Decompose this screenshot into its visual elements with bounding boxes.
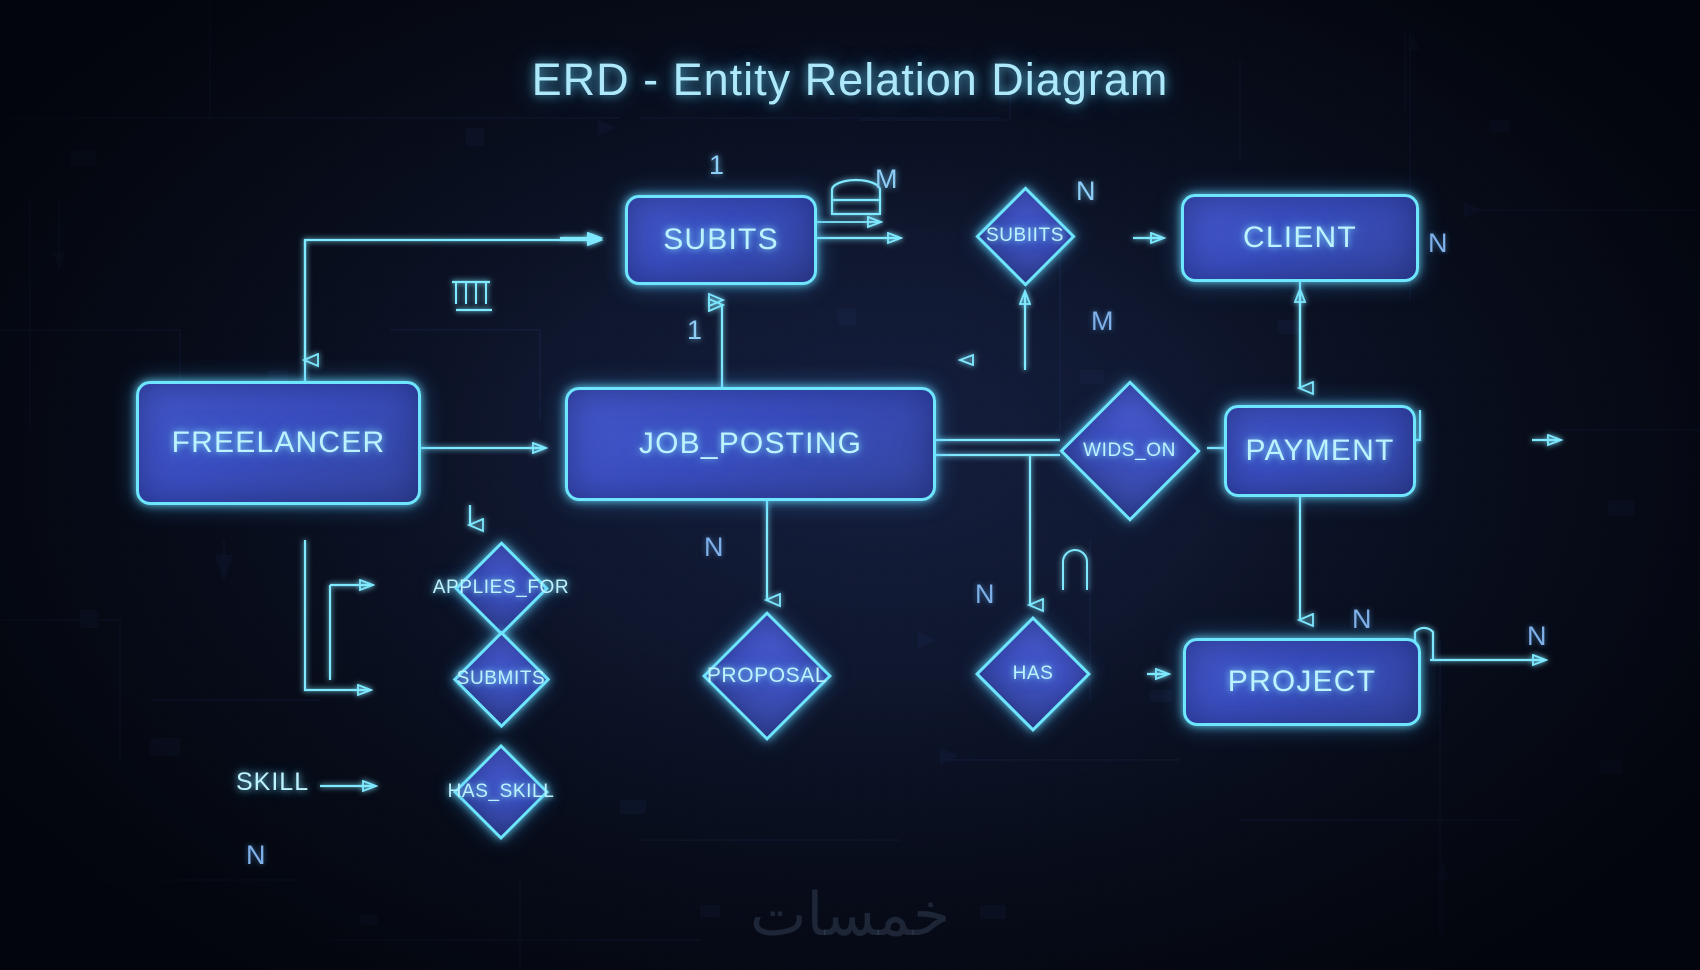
cardinality-subits-right: M (875, 164, 898, 195)
relationship-proposal[interactable]: PROPOSAL (627, 611, 907, 741)
entity-label: PROJECT (1228, 665, 1376, 699)
cardinality-bottom-left: N (246, 840, 266, 871)
relationship-submits[interactable]: SUBMITS (390, 630, 612, 728)
relationship-label: APPLIES_FOR (433, 577, 569, 599)
entity-label: JOB_POSTING (639, 427, 862, 461)
entity-label: FREELANCER (172, 426, 386, 460)
entity-payment[interactable]: PAYMENT (1224, 405, 1416, 497)
entity-client[interactable]: CLIENT (1181, 194, 1419, 282)
relationship-label: HAS_SKILL (448, 781, 555, 803)
cardinality-client-right: N (1428, 228, 1448, 259)
relationship-label: HAS (1013, 663, 1054, 685)
cardinality-job-posting-up: 1 (687, 315, 702, 346)
entity-label-skill[interactable]: SKILL (236, 768, 309, 797)
relationship-label: WIDS_ON (1083, 440, 1176, 462)
relationship-subiits[interactable]: SUBIITS (917, 186, 1133, 286)
relationship-has[interactable]: HAS (919, 616, 1147, 732)
relationship-label: SUBIITS (986, 225, 1064, 247)
entity-label: SUBITS (663, 223, 779, 257)
relationship-applies-for[interactable]: APPLIES_FOR (390, 541, 612, 635)
relationship-label: PROPOSAL (707, 664, 827, 688)
cardinality-payment-up: M (1091, 306, 1114, 337)
entity-project[interactable]: PROJECT (1183, 638, 1421, 726)
cardinality-proposal: N (704, 532, 724, 563)
cardinality-has: N (975, 579, 995, 610)
entity-subits[interactable]: SUBITS (625, 195, 817, 285)
page-title: ERD - Entity Relation Diagram (0, 54, 1700, 106)
erd-canvas: ERD - Entity Relation Diagram SUBITS CLI… (0, 0, 1700, 970)
relationship-label: SUBMITS (457, 668, 546, 690)
cardinality-client-left: N (1076, 176, 1096, 207)
cardinality-right-edge: N (1527, 621, 1547, 652)
entity-job-posting[interactable]: JOB_POSTING (565, 387, 936, 501)
relationship-has-skill[interactable]: HAS_SKILL (390, 744, 612, 840)
relationship-wids-on[interactable]: WIDS_ON (1052, 381, 1207, 521)
entity-label: PAYMENT (1246, 434, 1395, 468)
cardinality-subits-top: 1 (709, 150, 724, 181)
watermark: خمسات (750, 880, 950, 950)
entity-label: CLIENT (1243, 221, 1357, 255)
cardinality-project: N (1352, 604, 1372, 635)
entity-freelancer[interactable]: FREELANCER (136, 381, 421, 505)
